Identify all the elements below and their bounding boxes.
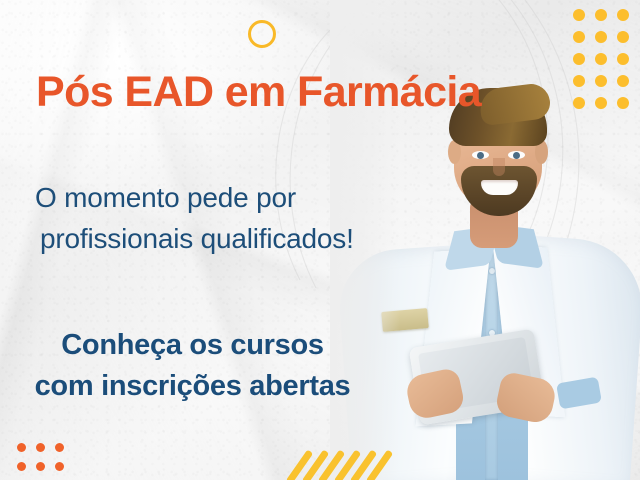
ring-outline-icon (248, 20, 276, 48)
shirt-button (489, 268, 495, 274)
dot (617, 97, 629, 109)
cta-line-1: Conheça os cursos (30, 325, 355, 366)
dot (36, 443, 45, 452)
promotional-banner: Pós EAD em Farmácia O momento pede por p… (0, 0, 640, 480)
dot-grid-orange (17, 443, 74, 480)
dot (573, 97, 585, 109)
subheading: O momento pede por profissionais qualifi… (35, 178, 354, 259)
page-title: Pós EAD em Farmácia (36, 71, 481, 114)
diagonal-stripes (296, 446, 400, 480)
cta-line-2: com inscrições abertas (30, 366, 355, 407)
dot (17, 462, 26, 471)
dot (55, 462, 64, 471)
dot (55, 443, 64, 452)
dot (573, 75, 585, 87)
dot (573, 53, 585, 65)
pupil-right (513, 152, 520, 159)
dot (573, 9, 585, 21)
subheading-line-1: O momento pede por (35, 178, 354, 219)
dot (573, 31, 585, 43)
dot-grid-yellow (573, 9, 639, 119)
dot (617, 9, 629, 21)
dot (617, 75, 629, 87)
dot (595, 75, 607, 87)
subheading-line-2: profissionais qualificados! (35, 219, 354, 260)
dot (617, 31, 629, 43)
dot (595, 97, 607, 109)
dot (17, 443, 26, 452)
dot (36, 462, 45, 471)
dot (595, 31, 607, 43)
dot (595, 9, 607, 21)
dot (617, 53, 629, 65)
dot (595, 53, 607, 65)
smiling-mouth (481, 180, 518, 195)
pupil-left (477, 152, 484, 159)
nose (493, 158, 505, 176)
cta-text: Conheça os cursos com inscrições abertas (30, 325, 355, 407)
